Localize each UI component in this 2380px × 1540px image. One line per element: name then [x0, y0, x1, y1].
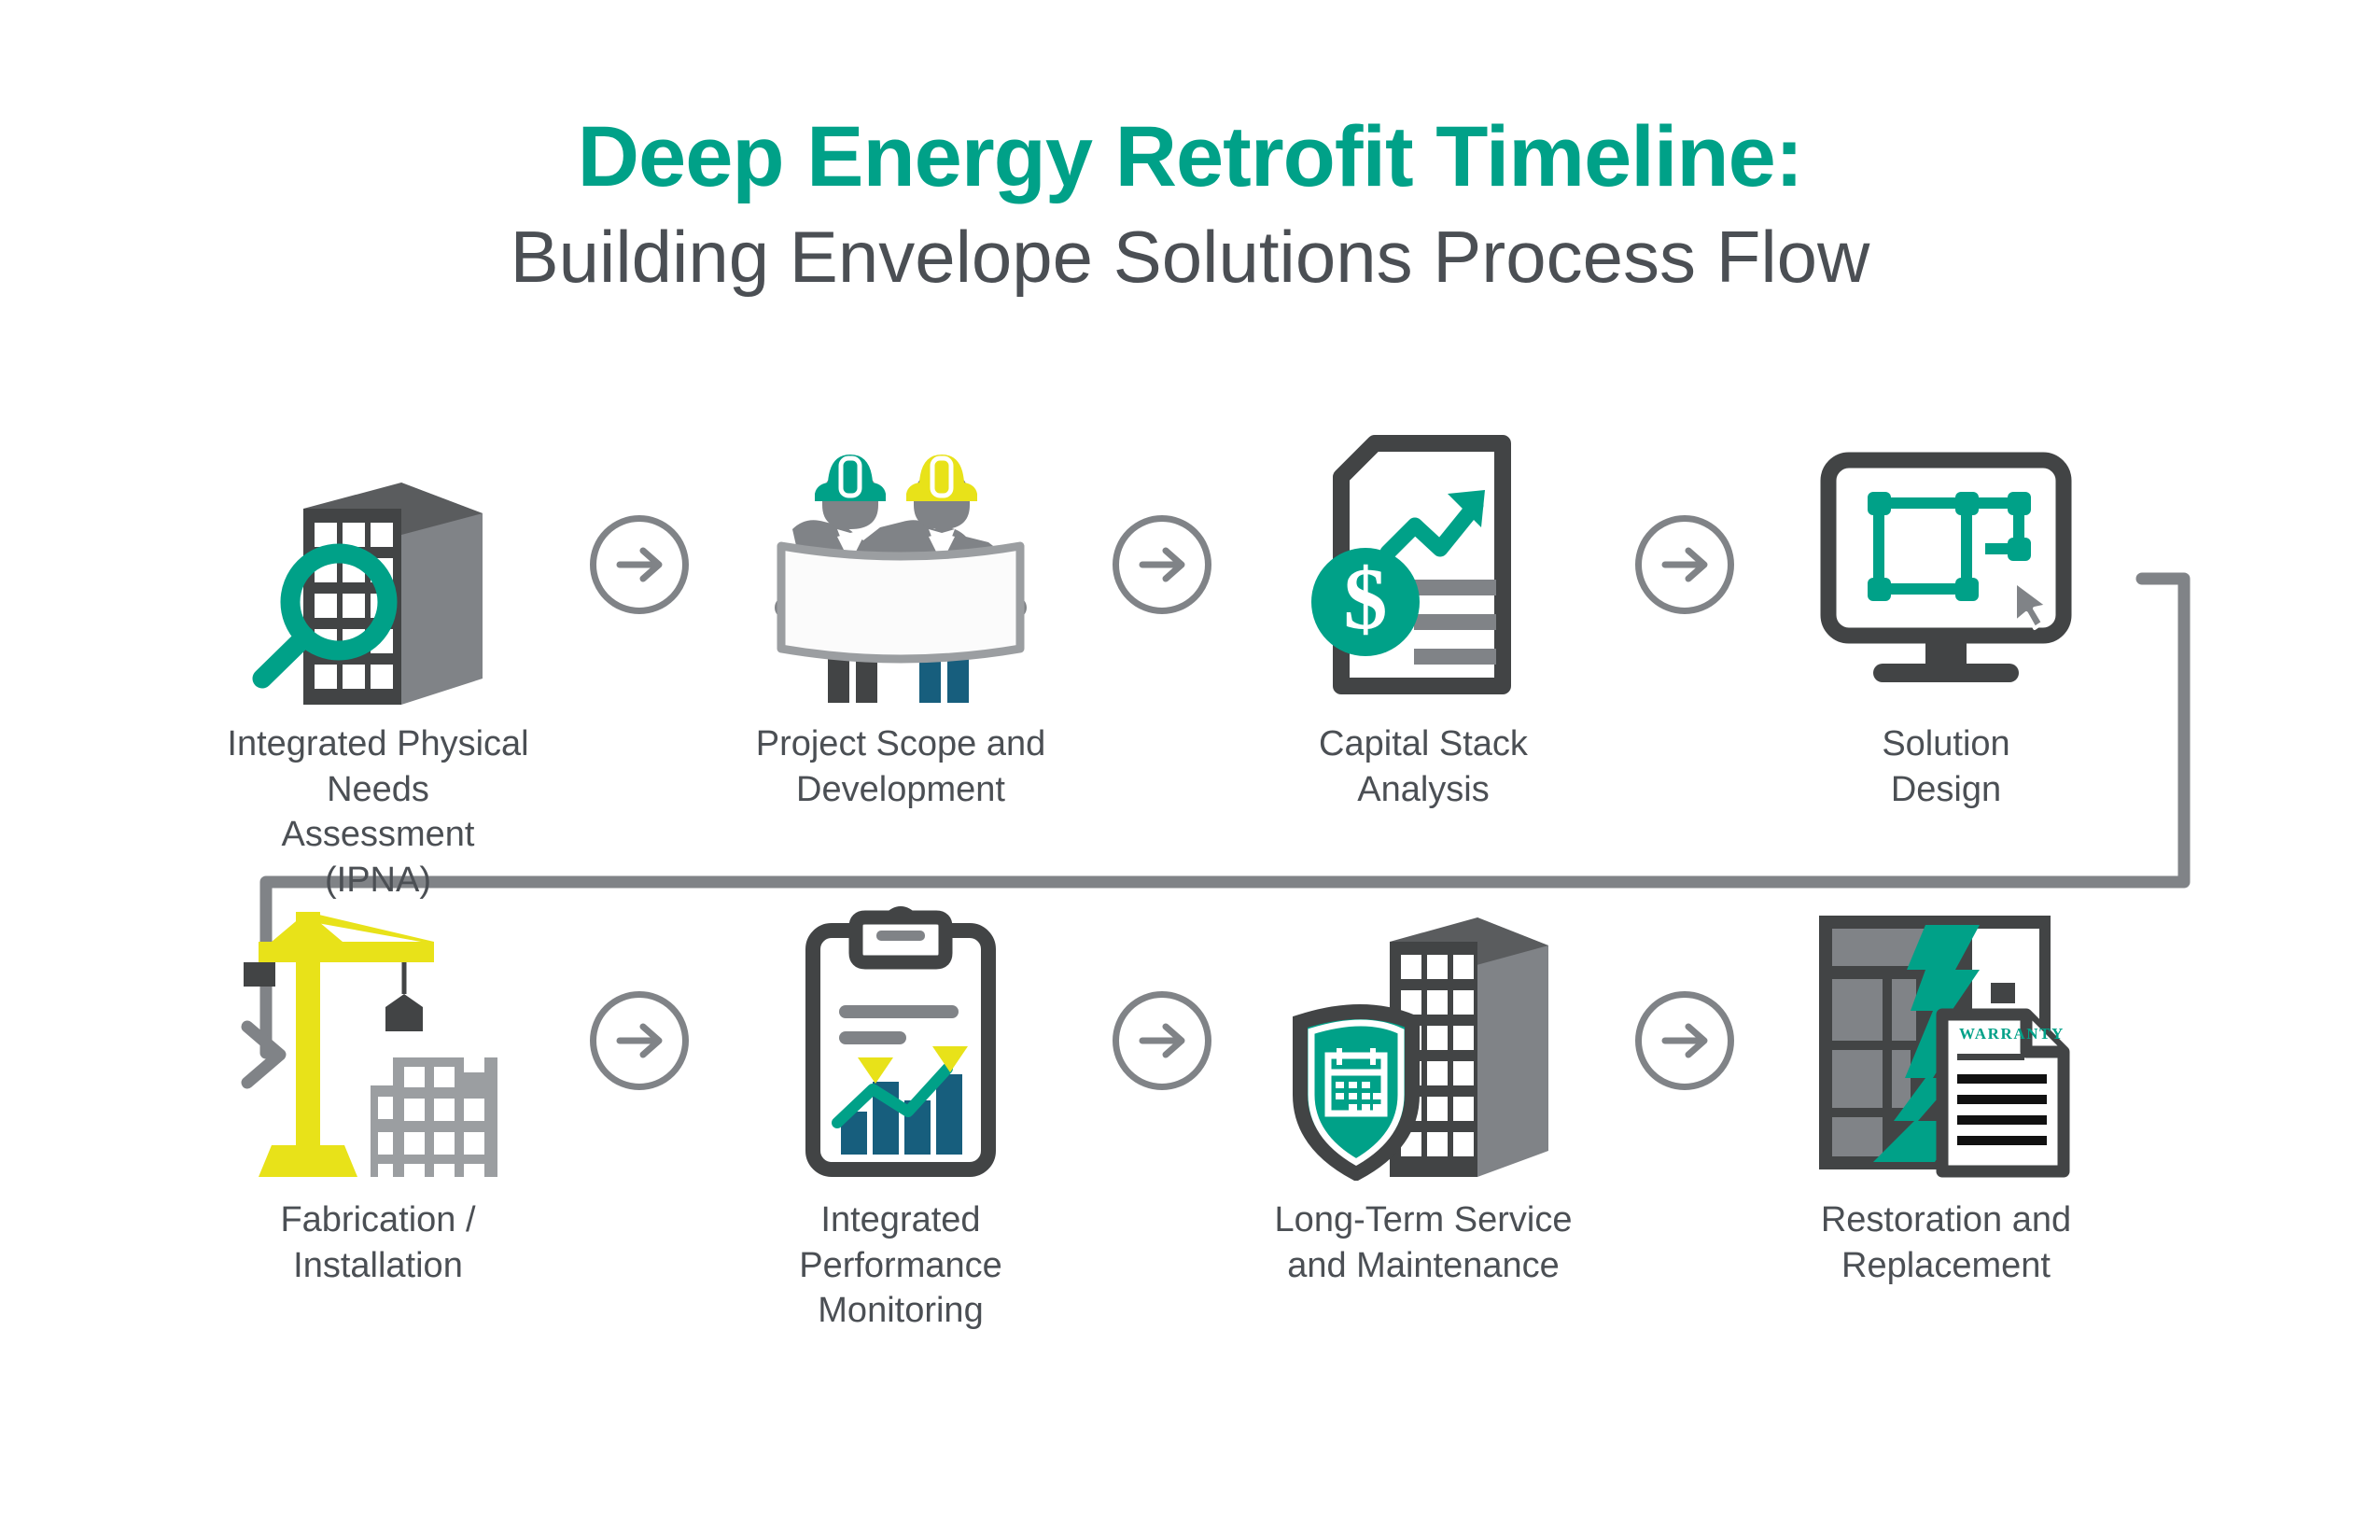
- arrow-right-icon: [1113, 515, 1211, 614]
- process-step-6[interactable]: Integrated Performance Monitoring: [747, 901, 1055, 1334]
- page-title: Deep Energy Retrofit Timeline: Building …: [0, 112, 2380, 295]
- connector-1-2: [532, 425, 747, 705]
- step-label: Capital Stack Analysis: [1319, 721, 1528, 812]
- clipboard-chart-icon: [747, 901, 1055, 1181]
- building-shield-calendar-icon: [1269, 901, 1577, 1181]
- process-step-4[interactable]: Solution Design: [1792, 425, 2100, 812]
- arrow-right-icon: [1635, 515, 1734, 614]
- connector-6-7: [1055, 901, 1269, 1181]
- workers-blueprint-icon: [747, 425, 1055, 705]
- title-main: Deep Energy Retrofit Timeline:: [0, 112, 2380, 203]
- arrow-right-icon: [590, 991, 689, 1090]
- connector-5-6: [532, 901, 747, 1181]
- arrow-right-icon: [590, 515, 689, 614]
- title-subtitle: Building Envelope Solutions Process Flow: [0, 219, 2380, 296]
- connector-7-8: [1577, 901, 1792, 1181]
- process-row-2: Fabrication / Installation: [224, 901, 2184, 1334]
- arrow-right-icon: [1113, 991, 1211, 1090]
- crane-construction-icon: [224, 901, 532, 1181]
- process-step-5[interactable]: Fabrication / Installation: [224, 901, 532, 1288]
- step-label: Long-Term Service and Maintenance: [1275, 1197, 1573, 1288]
- process-step-8[interactable]: WARRANTY Restoration and Replacement: [1792, 901, 2100, 1288]
- step-label: Integrated Performance Monitoring: [747, 1197, 1055, 1334]
- step-label: Restoration and Replacement: [1821, 1197, 2071, 1288]
- building-magnifier-icon: [224, 425, 532, 705]
- warranty-text: WARRANTY: [1959, 1025, 2065, 1043]
- connector-2-3: [1055, 425, 1269, 705]
- process-step-1[interactable]: Integrated Physical Needs Assessment (IP…: [224, 425, 532, 903]
- monitor-cad-icon: [1792, 425, 2100, 705]
- process-step-3[interactable]: $ Capital Stack Analysis: [1269, 425, 1577, 812]
- financial-document-icon: $: [1269, 425, 1577, 705]
- connector-3-4: [1577, 425, 1792, 705]
- process-row-1: Integrated Physical Needs Assessment (IP…: [224, 425, 2184, 903]
- process-step-7[interactable]: Long-Term Service and Maintenance: [1269, 901, 1577, 1288]
- step-label: Project Scope and Development: [756, 721, 1046, 812]
- step-label: Solution Design: [1882, 721, 2009, 812]
- arrow-right-icon: [1635, 991, 1734, 1090]
- process-step-2[interactable]: Project Scope and Development: [747, 425, 1055, 812]
- facade-warranty-icon: WARRANTY: [1792, 901, 2100, 1181]
- step-label: Fabrication / Installation: [280, 1197, 475, 1288]
- infographic-canvas: Deep Energy Retrofit Timeline: Building …: [0, 0, 2380, 1540]
- step-label: Integrated Physical Needs Assessment (IP…: [224, 721, 532, 903]
- svg-text:$: $: [1344, 551, 1388, 648]
